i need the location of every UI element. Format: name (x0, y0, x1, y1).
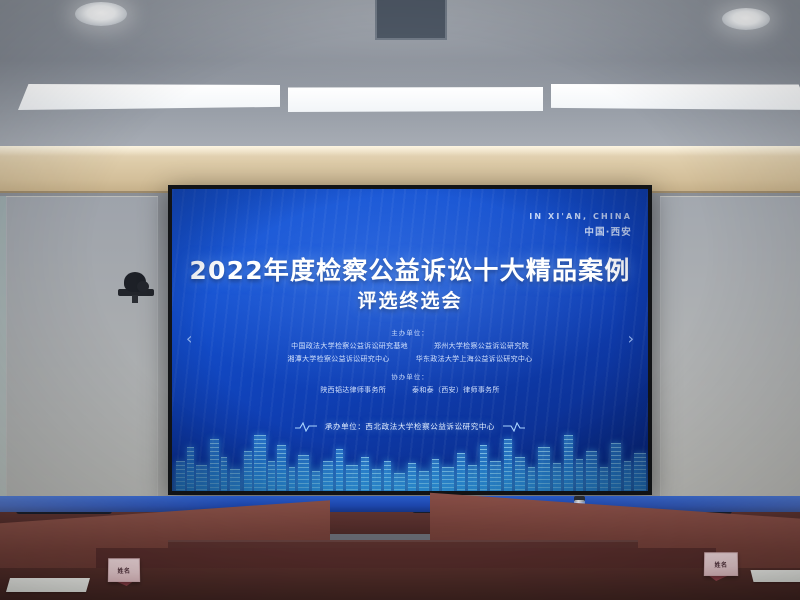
conference-room-scene: IN XI'AN, CHINA 中国·西安 2022年度检察公益诉讼十大精品案例… (0, 0, 800, 600)
linear-ceiling-light (288, 87, 543, 112)
camera-lens (137, 281, 149, 292)
name-placard: 姓名 (108, 558, 140, 582)
document-paper (751, 570, 800, 582)
recessed-downlight-icon (75, 2, 127, 26)
soffit-cove-glow (0, 146, 800, 156)
name-placard: 姓名 (704, 552, 738, 576)
document-paper (6, 578, 90, 592)
wall-panel-left (6, 196, 158, 498)
wall-camera-icon (118, 272, 154, 302)
linear-ceiling-light (18, 84, 280, 110)
recessed-downlight-icon (722, 8, 770, 30)
led-screen[interactable]: IN XI'AN, CHINA 中国·西安 2022年度检察公益诉讼十大精品案例… (172, 189, 648, 491)
wall-panel-right (660, 196, 800, 498)
podium-top-edge (168, 540, 638, 542)
hvac-vent-icon (375, 0, 447, 40)
screen-vignette (172, 189, 648, 491)
camera-stem (132, 295, 138, 303)
linear-ceiling-light (551, 84, 800, 110)
